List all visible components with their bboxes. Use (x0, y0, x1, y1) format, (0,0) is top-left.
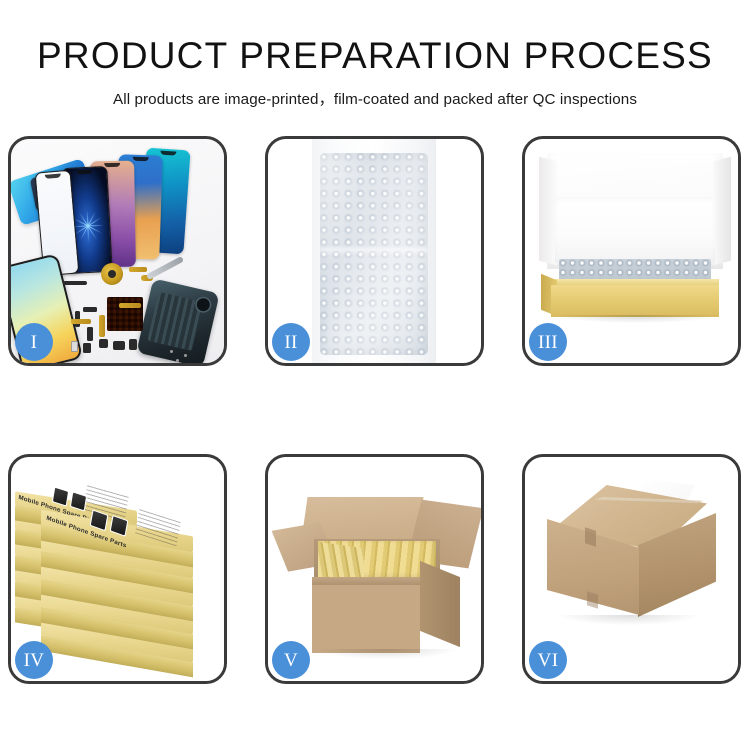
carton-front-face (312, 585, 420, 653)
page-subtitle: All products are image-printed，film-coat… (0, 87, 750, 109)
bubble-wrap-pouch (320, 153, 428, 355)
speaker-coil-part (101, 263, 123, 285)
carton-right-face (420, 561, 460, 647)
step-panel-6: VI (522, 454, 741, 684)
step-panel-2: II (265, 136, 484, 366)
step-panel-5: V (265, 454, 484, 684)
carton-seam-upper (585, 527, 596, 547)
spare-parts-cluster (69, 257, 189, 363)
step-badge-5: V (272, 641, 310, 679)
step-badge-1: I (15, 323, 53, 361)
step-panel-3: III (522, 136, 741, 366)
process-steps-grid: I II III (8, 136, 742, 684)
tweezers-tool (146, 256, 184, 280)
carton-seam-lower (587, 591, 598, 609)
carton-shadow (316, 649, 456, 659)
box-shadow (555, 315, 717, 323)
header: PRODUCT PREPARATION PROCESS All products… (0, 0, 750, 109)
foam-sheet (555, 197, 715, 263)
sealed-carton-shadow (559, 615, 699, 625)
page-title: PRODUCT PREPARATION PROCESS (0, 36, 750, 76)
step-badge-2: II (272, 323, 310, 361)
phone-screen-fan (17, 145, 224, 270)
step-panel-4: Mobile Phone Spare Parts Mobile Phone Sp… (8, 454, 227, 684)
box-front-face (551, 285, 719, 317)
step-panel-1: I (8, 136, 227, 366)
step-badge-4: IV (15, 641, 53, 679)
step-badge-6: VI (529, 641, 567, 679)
step-badge-3: III (529, 323, 567, 361)
product-preparation-infographic: PRODUCT PREPARATION PROCESS All products… (0, 0, 750, 750)
